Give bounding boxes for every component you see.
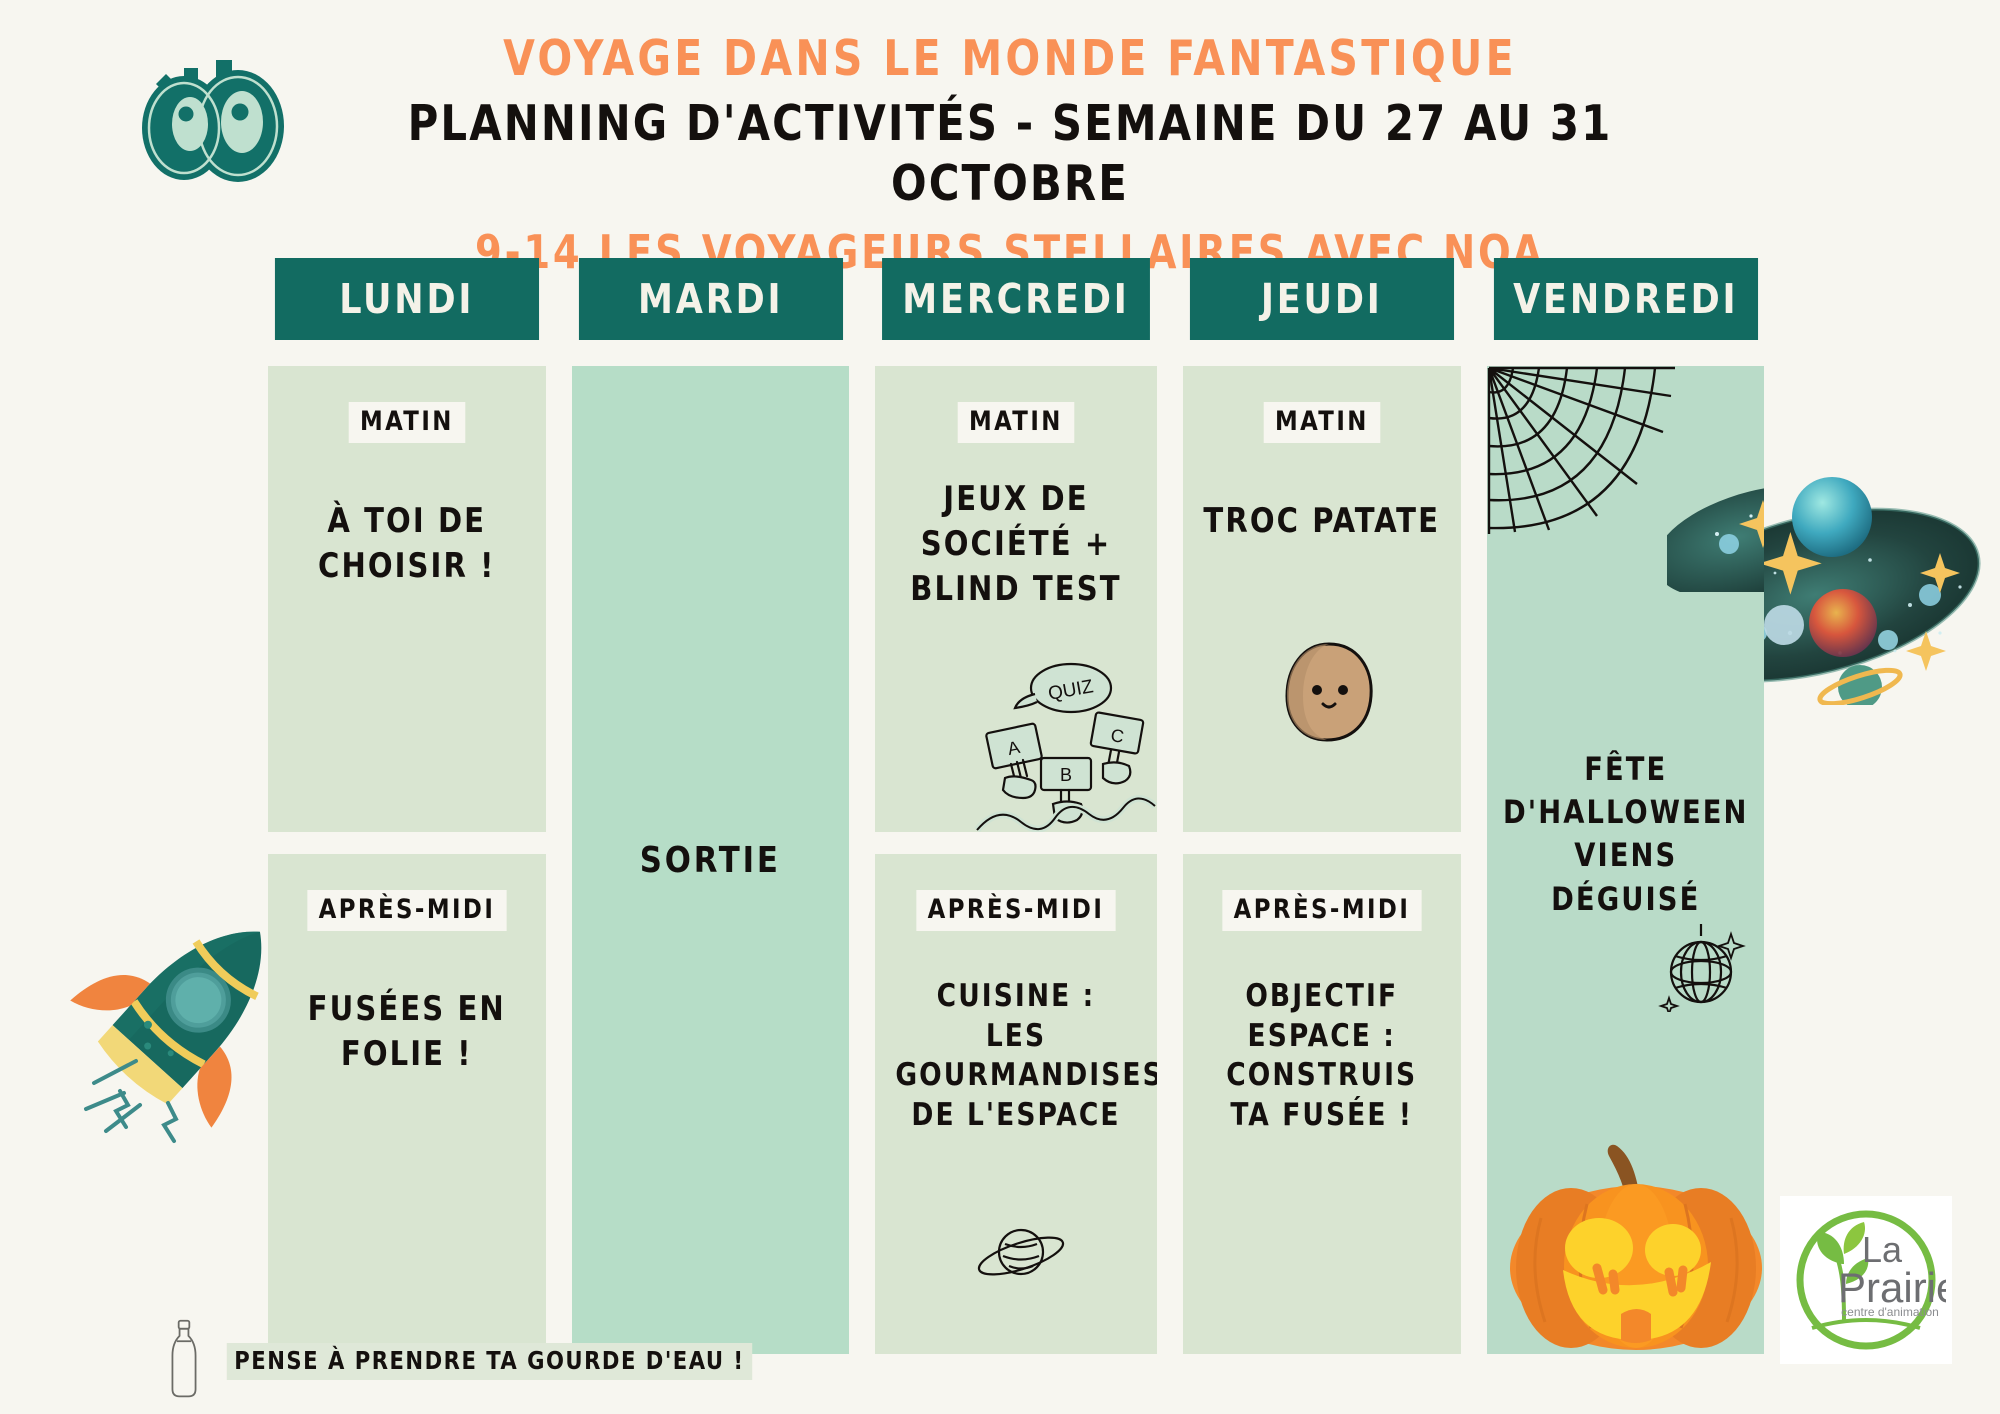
two-eyes-cells-icon [128, 38, 298, 188]
cell-mercredi-morning[interactable]: MATIN JEUX DE SOCIÉTÉ + BLIND TEST QUIZ … [875, 366, 1157, 832]
activity-mardi: SORTIE [640, 840, 781, 881]
cell-mardi-full[interactable]: SORTIE [572, 366, 850, 1354]
day-column-jeudi: JEUDI MATIN TROC PATATE [1183, 258, 1461, 1354]
weekly-schedule-grid: LUNDI MATIN À TOI DE CHOISIR ! APRÈS-MID… [268, 258, 1764, 1354]
pumpkin-icon [1501, 1126, 1765, 1354]
day-header-vendredi: VENDREDI [1493, 258, 1757, 340]
activity-mercredi-afternoon: CUISINE : LES GOURMANDISES DE L'ESPACE [882, 977, 1150, 1136]
activity-vendredi: FÊTE D'HALLOWEEN VIENS DÉGUISÉ [1493, 748, 1757, 921]
poster-canvas: VOYAGE DANS LE MONDE FANTASTIQUE PLANNIN… [0, 0, 2000, 1414]
cell-lundi-afternoon[interactable]: APRÈS-MIDI FUSÉES EN FOLIE ! [268, 854, 546, 1354]
day-column-mardi: MARDI SORTIE [572, 258, 850, 1354]
cell-mercredi-afternoon[interactable]: APRÈS-MIDI CUISINE : LES GOURMANDISES DE… [875, 854, 1157, 1354]
slot-tag-apres-midi: APRÈS-MIDI [916, 890, 1115, 931]
activity-jeudi-afternoon: OBJECTIF ESPACE : CONSTRUIS TA FUSÉE ! [1190, 977, 1454, 1136]
slot-tag-matin: MATIN [958, 402, 1074, 443]
day-header-lundi: LUNDI [275, 258, 539, 340]
disco-ball-icon [1653, 916, 1749, 1012]
day-header-mardi: MARDI [578, 258, 842, 340]
la-prairie-logo: La Prairie centre d'animation [1780, 1196, 1952, 1364]
day-header-mercredi: MERCREDI [882, 258, 1150, 340]
cell-jeudi-morning[interactable]: MATIN TROC PATATE [1183, 366, 1461, 832]
day-column-vendredi: VENDREDI [1487, 258, 1765, 1354]
slot-tag-matin: MATIN [1264, 402, 1380, 443]
water-bottle-icon [168, 1318, 200, 1405]
spiderweb-icon [1487, 366, 1677, 536]
activity-jeudi-morning: TROC PATATE [1190, 499, 1454, 544]
cell-vendredi-full[interactable]: FÊTE D'HALLOWEEN VIENS DÉGUISÉ [1487, 366, 1765, 1354]
activity-mercredi-morning: JEUX DE SOCIÉTÉ + BLIND TEST [882, 477, 1150, 612]
poster-title-block: VOYAGE DANS LE MONDE FANTASTIQUE PLANNIN… [300, 30, 1720, 281]
svg-text:B: B [1060, 765, 1072, 785]
slot-tag-matin: MATIN [349, 402, 465, 443]
quiz-hands-icon: QUIZ A B C [971, 654, 1157, 832]
day-column-lundi: LUNDI MATIN À TOI DE CHOISIR ! APRÈS-MID… [268, 258, 546, 1354]
title-line-2: PLANNING D'ACTIVITÉS - SEMAINE DU 27 AU … [336, 94, 1685, 214]
saturn-icon [971, 1216, 1071, 1296]
footer-note-text: PENSE À PRENDRE TA GOURDE D'EAU ! [227, 1343, 752, 1380]
galaxy-overlap-icon [1667, 482, 1765, 592]
day-column-mercredi: MERCREDI MATIN JEUX DE SOCIÉTÉ + BLIND T… [875, 258, 1157, 1354]
logo-line-2: Prairie [1838, 1264, 1946, 1311]
day-header-jeudi: JEUDI [1190, 258, 1454, 340]
potato-icon [1281, 638, 1377, 746]
activity-lundi-afternoon: FUSÉES EN FOLIE ! [275, 987, 539, 1077]
activity-lundi-morning: À TOI DE CHOISIR ! [275, 499, 539, 589]
slot-tag-apres-midi: APRÈS-MIDI [307, 890, 506, 931]
cell-lundi-morning[interactable]: MATIN À TOI DE CHOISIR ! [268, 366, 546, 832]
footer-note: PENSE À PRENDRE TA GOURDE D'EAU ! [168, 1318, 769, 1405]
cell-jeudi-afternoon[interactable]: APRÈS-MIDI OBJECTIF ESPACE : CONSTRUIS T… [1183, 854, 1461, 1354]
logo-tagline: centre d'animation [1841, 1305, 1939, 1319]
title-line-1: VOYAGE DANS LE MONDE FANTASTIQUE [350, 30, 1671, 88]
slot-tag-apres-midi: APRÈS-MIDI [1222, 890, 1421, 931]
